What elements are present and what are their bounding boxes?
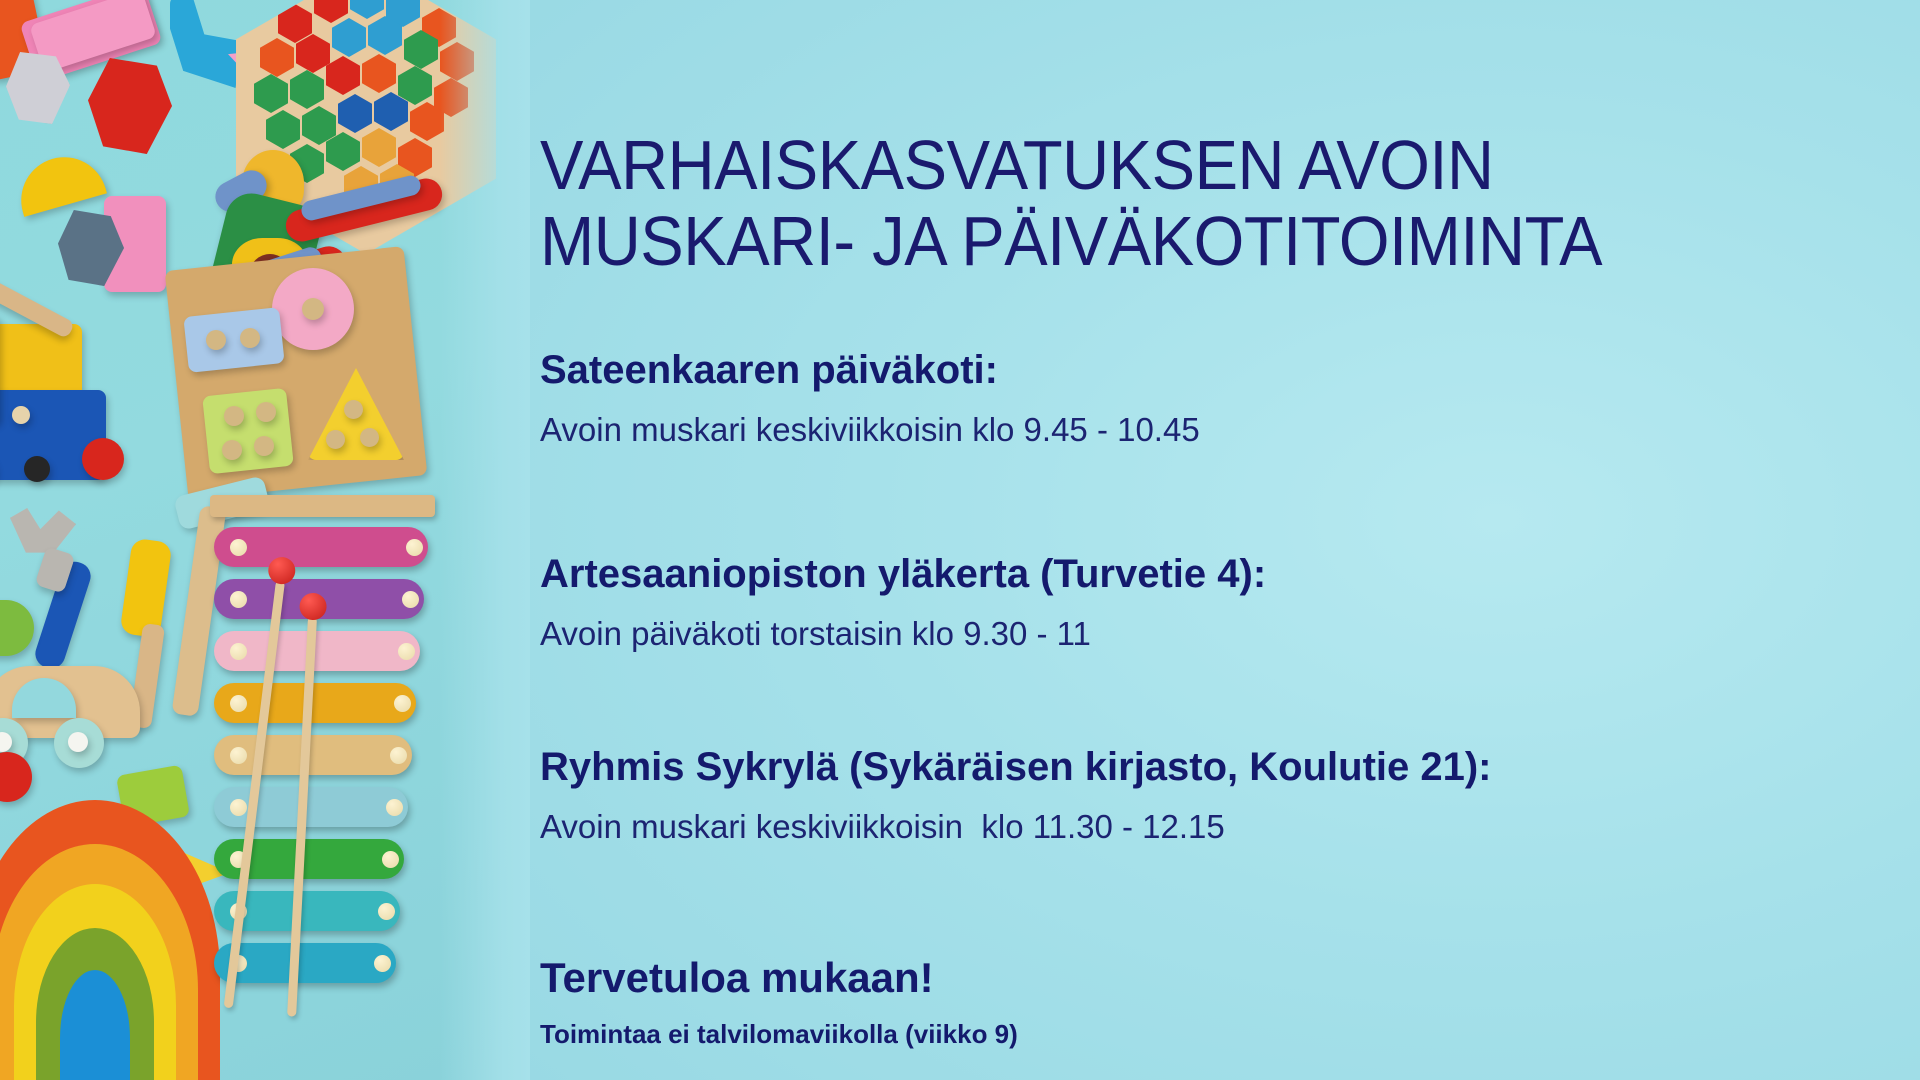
- presentation-slide: VARHAISKASVATUKSEN AVOIN MUSKARI- JA PÄI…: [0, 0, 1920, 1080]
- section-sateenkaaren-paivakoti: Sateenkaaren päiväkoti: Avoin muskari ke…: [540, 348, 1860, 449]
- welcome-message: Tervetuloa mukaan!: [540, 955, 1860, 1001]
- sorter-peg-9: [360, 428, 379, 447]
- sorter-peg-1: [206, 330, 226, 350]
- sorter-peg-2: [240, 328, 260, 348]
- section-heading: Artesaaniopiston yläkerta (Turvetie 4):: [540, 552, 1860, 597]
- section-body: Avoin muskari keskiviikkoisin klo 9.45 -…: [540, 410, 1860, 450]
- wooden-truck: [0, 278, 174, 478]
- section-heading: Ryhmis Sykrylä (Sykäräisen kirjasto, Kou…: [540, 745, 1860, 790]
- sorter-peg-4: [256, 402, 276, 422]
- slide-text-content: VARHAISKASVATUKSEN AVOIN MUSKARI- JA PÄI…: [540, 0, 1870, 1080]
- section-body: Avoin muskari keskiviikkoisin klo 11.30 …: [540, 807, 1860, 847]
- block-red-gem: [88, 58, 172, 154]
- xylophone: [200, 495, 440, 1080]
- sorter-peg-6: [254, 436, 274, 456]
- section-artesaaniopisto: Artesaaniopiston yläkerta (Turvetie 4): …: [540, 552, 1860, 653]
- sorter-peg-7: [344, 400, 363, 419]
- section-body: Avoin päiväkoti torstaisin klo 9.30 - 11: [540, 614, 1860, 654]
- sorter-blue-rect: [183, 307, 284, 373]
- sorter-peg-8: [326, 430, 345, 449]
- sorter-peg-5: [222, 440, 242, 460]
- section-ryhmis-sykryla: Ryhmis Sykrylä (Sykäräisen kirjasto, Kou…: [540, 745, 1860, 846]
- sorter-green-square: [202, 388, 294, 474]
- toy-photo-collage: [0, 0, 530, 1080]
- block-blue-arch: [170, 0, 236, 92]
- sorter-peg-3: [224, 406, 244, 426]
- section-heading: Sateenkaaren päiväkoti:: [540, 348, 1860, 393]
- closing-block: Tervetuloa mukaan! Toimintaa ei talvilom…: [540, 955, 1860, 1050]
- holiday-note: Toimintaa ei talvilomaviikolla (viikko 9…: [540, 1019, 1860, 1050]
- sorter-disc-peg: [302, 298, 324, 320]
- block-yellow-semicircle: [11, 147, 107, 217]
- page-title: VARHAISKASVATUKSEN AVOIN MUSKARI- JA PÄI…: [540, 128, 1758, 279]
